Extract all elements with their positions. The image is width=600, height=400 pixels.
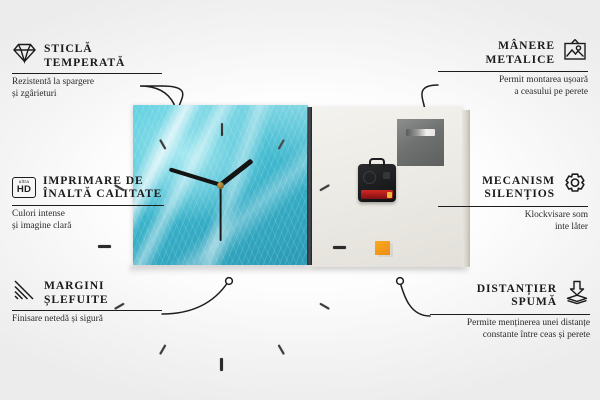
silent-clock-mechanism	[358, 164, 396, 202]
mechanism-hook	[369, 158, 385, 167]
gear-icon	[562, 172, 588, 202]
feature-title-line1: MECANISM	[482, 174, 555, 187]
diamond-icon	[12, 42, 37, 69]
feature-subtitle-line2: inte låter	[555, 222, 588, 232]
feature-title-line2: ȘLEFUITE	[44, 293, 109, 306]
feature-title-line1: MARGINI	[44, 279, 104, 292]
hanging-picture-frame-icon	[562, 38, 588, 67]
feature-high-quality-print: ultra HD IMPRIMARE DE ÎNALTĂ CALITATE Cu…	[12, 174, 164, 232]
feature-silent-mechanism: MECANISM SILENȚIOS Klockvisare som inte …	[438, 172, 588, 233]
clock-second-hand	[220, 185, 222, 241]
feature-subtitle-line1: Klockvisare som	[525, 210, 588, 220]
feature-polished-edges: MARGINI ȘLEFUITE Finisare netedă și sigu…	[12, 279, 162, 326]
feature-rule	[12, 205, 164, 206]
clock-minute-hand	[168, 167, 221, 187]
feature-subtitle-line1: Rezistentă la spargere	[12, 77, 94, 87]
anchor-dot-edges	[226, 278, 233, 285]
product-shadow	[129, 266, 469, 275]
product-group	[133, 105, 471, 275]
clock-hour-hand	[219, 158, 254, 187]
feature-tempered-glass: STICLĂ TEMPERATĂ Rezistentă la spargere …	[12, 42, 162, 100]
feature-subtitle-line1: Culori intense	[12, 209, 65, 219]
feature-title-line1: STICLĂ	[44, 42, 93, 55]
mechanism-dial	[363, 171, 376, 184]
feature-rule	[12, 73, 162, 74]
hanger-slot	[406, 129, 435, 136]
feature-title-line1: DISTANȚIER	[477, 282, 557, 295]
feature-title-line1: MÂNERE	[498, 39, 555, 52]
feature-metal-handles: MÂNERE METALICE Permit montarea ușoară a…	[438, 38, 588, 98]
feature-title-line2: SPUMĂ	[511, 295, 557, 308]
down-arrow-onto-stack-icon	[564, 280, 590, 310]
ultra-hd-badge-icon: ultra HD	[12, 177, 36, 198]
feature-subtitle-line2: a ceasului pe perete	[514, 87, 588, 97]
badge-hd-label: HD	[17, 185, 31, 195]
front-panel-glass-edge	[307, 107, 312, 265]
feature-subtitle-line1: Finisare netedă și sigură	[12, 314, 103, 324]
feature-title-line1: IMPRIMARE DE	[43, 174, 144, 187]
metal-hanger-plate	[397, 119, 444, 166]
diagonal-hatch-icon	[12, 279, 37, 306]
feature-title-line2: SILENȚIOS	[484, 187, 555, 200]
infographic-canvas: STICLĂ TEMPERATĂ Rezistentă la spargere …	[0, 0, 600, 400]
feature-subtitle-line1: Permite menținerea unei distanțe	[467, 318, 590, 328]
feature-foam-spacer: DISTANȚIER SPUMĂ Permite menținerea unei…	[430, 280, 590, 341]
feature-title-line2: ÎNALTĂ CALITATE	[43, 187, 162, 200]
feature-subtitle-line2: și zgârieturi	[12, 89, 57, 99]
feature-subtitle-line2: și imagine clară	[12, 221, 71, 231]
mechanism-knob	[383, 172, 390, 179]
feature-rule	[430, 314, 590, 315]
feature-subtitle-line1: Permit montarea ușoară	[499, 75, 588, 85]
clock-hand-hub	[217, 182, 224, 189]
feature-title-line2: TEMPERATĂ	[44, 56, 125, 69]
aa-battery	[361, 190, 393, 199]
feature-title-line2: METALICE	[486, 53, 555, 66]
feature-rule	[438, 71, 588, 72]
feature-rule	[12, 310, 162, 311]
feature-subtitle-line2: constante între ceas și perete	[483, 330, 590, 340]
feature-rule	[438, 206, 588, 207]
anchor-dot-spacer	[397, 278, 404, 285]
foam-spacer	[375, 241, 390, 255]
